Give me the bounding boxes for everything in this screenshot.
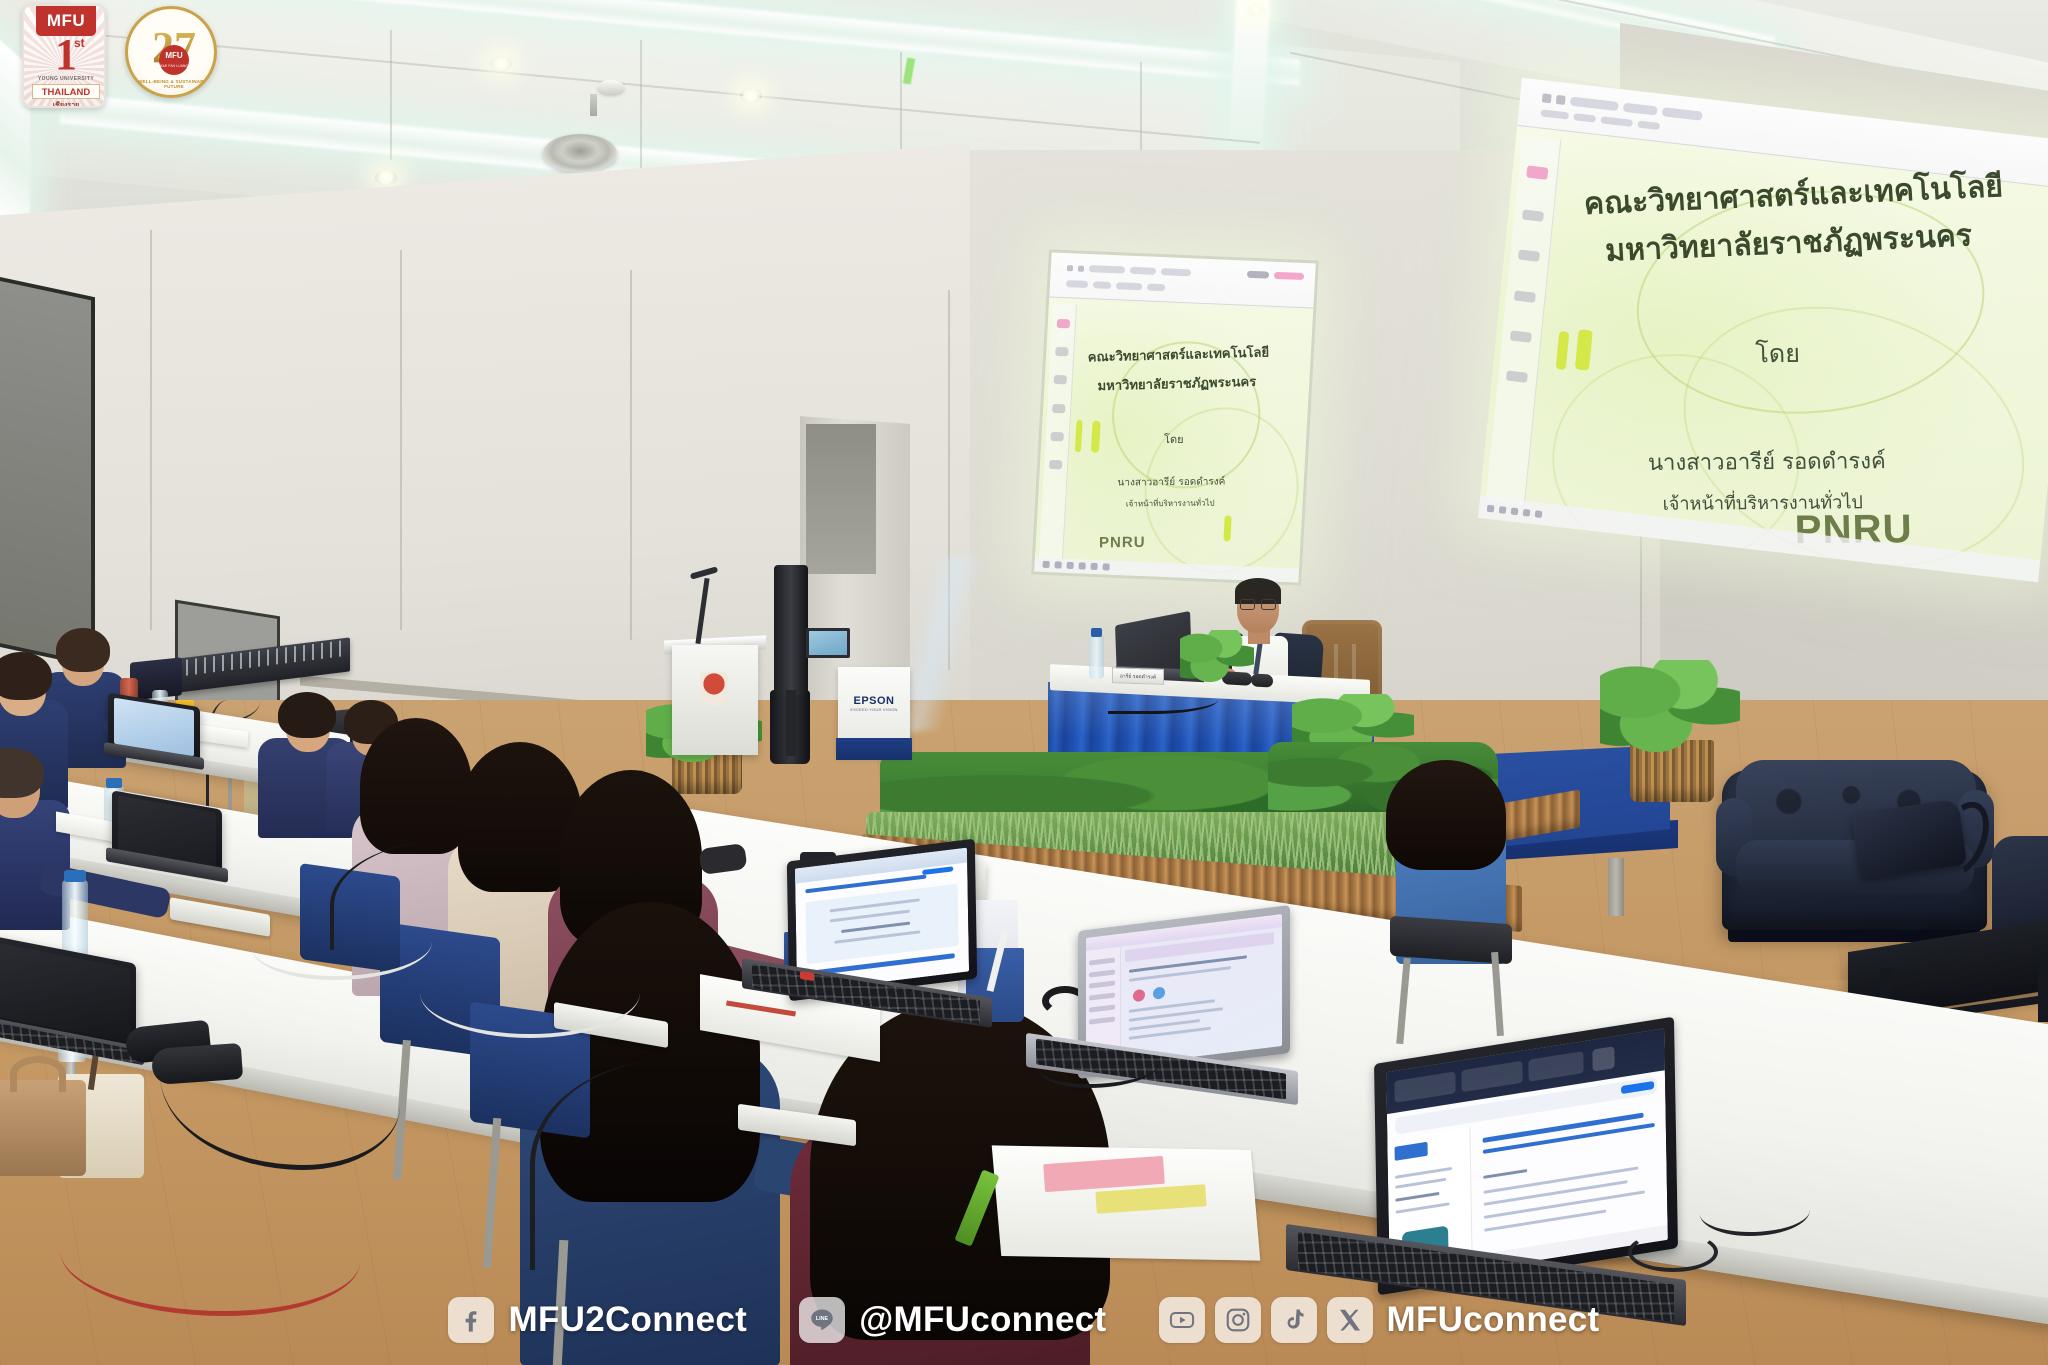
- sprinkler-icon: [590, 94, 597, 116]
- potted-plant-right: [1600, 660, 1740, 752]
- content-line: [1483, 1180, 1628, 1206]
- podium-crest-icon: [700, 672, 728, 706]
- taskbar-app-icon[interactable]: [1090, 563, 1097, 570]
- menu-sign[interactable]: [1147, 284, 1165, 292]
- av-cable: [530, 1060, 810, 1270]
- home-icon[interactable]: [1556, 95, 1566, 105]
- water-bottle: [62, 880, 88, 958]
- bottle-cap: [64, 870, 86, 882]
- content-line: [1483, 1169, 1528, 1179]
- slide-footer-logo: PNRU: [1099, 533, 1146, 550]
- logo-badge-subtext: MAE FAH LUANG: [159, 61, 189, 71]
- folder-item[interactable]: [1089, 993, 1115, 1001]
- bottle-cap: [106, 778, 122, 788]
- slide-title-line1: คณะวิทยาศาสตร์และเทคโนโลยี: [1046, 340, 1311, 368]
- folder-item[interactable]: [1089, 969, 1115, 977]
- pdf-viewer-toolbar: [1049, 252, 1315, 308]
- power-cable: [420, 948, 640, 1038]
- slide-surface: คณะวิทยาศาสตร์และเทคโนโลยี มหาวิทยาลัยรา…: [1034, 252, 1316, 582]
- toolbar-item: [1130, 267, 1156, 275]
- wall-seam: [400, 250, 402, 630]
- logo-rank-suffix: st: [74, 36, 85, 50]
- content-line: [1483, 1190, 1644, 1218]
- sidebar-line: [1395, 1192, 1440, 1202]
- menu-file[interactable]: [1066, 280, 1088, 288]
- slide-by-label: โดย: [1042, 429, 1306, 450]
- logo-anniversary-tagline: WELL-BEING & SUSTAINABLE FUTURE: [128, 79, 217, 89]
- slide-presenter-name: นางสาวอารีย์ รอดดำรงค์: [1039, 474, 1303, 492]
- logo-young-university-label: YOUNG UNIVERSITY: [24, 76, 106, 82]
- signin-button[interactable]: [1274, 272, 1304, 280]
- folder-item[interactable]: [1089, 981, 1115, 989]
- monitor-small: [806, 628, 850, 658]
- wall-seam: [630, 270, 632, 640]
- menu-icon: [1067, 265, 1073, 271]
- folder-item[interactable]: [1089, 1017, 1115, 1025]
- sidebar-tool-icon[interactable]: [1514, 290, 1536, 302]
- photo-canvas: คณะวิทยาศาสตร์และเทคโนโลยี มหาวิทยาลัยรา…: [0, 0, 2048, 1365]
- bag-handle: [10, 1056, 66, 1092]
- folder-item[interactable]: [1089, 1005, 1115, 1013]
- ceiling-downlight: [740, 88, 762, 103]
- taskbar-app-icon[interactable]: [1066, 562, 1073, 569]
- cable-loop: [1628, 1232, 1718, 1272]
- taskbar-app-icon[interactable]: [1102, 564, 1109, 571]
- eyeglasses-icon: [1240, 599, 1255, 610]
- logo-badge-text: MFU: [165, 51, 182, 60]
- mfu-1st-thailand-logo: MFU 1 st YOUNG UNIVERSITY THAILAND เชียง…: [22, 4, 106, 108]
- logo-rank-number: 1: [24, 32, 106, 78]
- menu-sign[interactable]: [1638, 121, 1661, 131]
- smoke-detector-icon: [598, 80, 624, 94]
- browser-tab[interactable]: [1461, 1061, 1523, 1093]
- menu-icon[interactable]: [1542, 94, 1552, 104]
- sidebar-tool-icon[interactable]: [1057, 319, 1070, 329]
- slide-surface: คณะวิทยาศาสตร์และเทคโนโลยี มหาวิทยาลัยรา…: [1478, 78, 2048, 582]
- start-icon[interactable]: [1487, 504, 1495, 512]
- sidebar-tool-icon[interactable]: [1052, 403, 1065, 413]
- wall-display-panel-left: [0, 273, 95, 667]
- ceiling-grid-line: [390, 30, 392, 160]
- ceiling-downlight: [375, 170, 397, 185]
- menu-edit[interactable]: [1574, 114, 1597, 124]
- ceiling-grid-line: [640, 40, 642, 170]
- ceiling-downlight: [490, 56, 512, 71]
- sidebar-line: [1395, 1178, 1446, 1189]
- taskbar-app-icon[interactable]: [1078, 563, 1085, 570]
- water-bottle: [1089, 635, 1104, 679]
- file-name-label: [1089, 265, 1125, 274]
- toolbar-item: [1623, 103, 1658, 116]
- tote-bag: [0, 1080, 86, 1176]
- start-icon[interactable]: [1042, 561, 1049, 568]
- sidebar-line: [1395, 1202, 1449, 1214]
- table-leg: [2038, 952, 2048, 1022]
- toolbar-accent: [922, 867, 953, 876]
- taskbar-app-icon[interactable]: [1054, 562, 1061, 569]
- sidebar-tool-icon[interactable]: [1049, 460, 1062, 470]
- sidebar-tool-icon[interactable]: [1526, 166, 1549, 180]
- menu-convert[interactable]: [1116, 282, 1142, 290]
- epson-box-base: [836, 738, 912, 760]
- brand-logo-icon: [1394, 1142, 1427, 1161]
- epson-brand-label: EPSON: [838, 695, 910, 707]
- microphone-icon: [1251, 673, 1273, 687]
- slide-presenter-name: นางสาวอารีย์ รอดดำรงค์: [1485, 442, 2048, 482]
- logo-anniversary-badge: MFU MAE FAH LUANG: [159, 45, 189, 75]
- speaker-stand: [786, 690, 796, 756]
- home-icon: [1078, 265, 1084, 271]
- wall-seam: [150, 230, 152, 630]
- wall-column-panel: [806, 424, 876, 574]
- speaker-nameplate: อารีย์ รอดดำรงค์: [1112, 667, 1164, 685]
- eyeglasses-icon: [1261, 599, 1276, 610]
- file-name-label: [1570, 97, 1619, 112]
- stage-leg: [1608, 858, 1624, 916]
- menu-convert[interactable]: [1601, 117, 1634, 128]
- avatar: [1133, 989, 1145, 1002]
- projection-screen-left: คณะวิทยาศาสตร์และเทคโนโลยี มหาวิทยาลัยรา…: [1031, 249, 1319, 585]
- slide-title-line2: มหาวิทยาลัยราชภัฏพระนคร: [1045, 369, 1310, 397]
- pa-speaker: [774, 565, 808, 695]
- new-tab-button[interactable]: [1592, 1046, 1615, 1071]
- menu-file[interactable]: [1541, 110, 1570, 120]
- taskbar-app-icon[interactable]: [1511, 507, 1519, 515]
- doc-body: [806, 884, 958, 964]
- taskbar-app-icon[interactable]: [1499, 506, 1507, 514]
- toolbar-item: [1662, 107, 1703, 121]
- air-vent-icon: [543, 134, 617, 172]
- avatar: [1153, 986, 1165, 999]
- browser-tab[interactable]: [1395, 1071, 1457, 1103]
- ceiling-downlight: [1245, 3, 1267, 18]
- bottle-cap: [1091, 628, 1102, 637]
- content-line: [1483, 1166, 1639, 1194]
- menu-edit[interactable]: [1093, 281, 1111, 289]
- taskbar-app-icon[interactable]: [1523, 508, 1531, 516]
- slide-by-label: โดย: [1496, 332, 2048, 377]
- share-button[interactable]: [1247, 271, 1269, 279]
- projection-screen-right: คณะวิทยาศาสตร์และเทคโนโลยี มหาวิทยาลัยรา…: [1478, 78, 2048, 582]
- epson-tagline: EXCEED YOUR VISION: [838, 707, 910, 712]
- taskbar-app-icon[interactable]: [1535, 510, 1543, 518]
- decorative-plant: [1180, 630, 1254, 682]
- shoe: [151, 1043, 243, 1085]
- logo-subcaption: เชียงราย: [24, 100, 106, 108]
- toolbar-item: [1161, 268, 1191, 276]
- mfu-27th-anniversary-logo: 27 MFU MAE FAH LUANG WELL-BEING & SUSTAI…: [125, 6, 217, 98]
- folder-item[interactable]: [1089, 957, 1115, 965]
- logo-country-label: THAILAND: [32, 84, 100, 99]
- browser-tab[interactable]: [1528, 1051, 1584, 1082]
